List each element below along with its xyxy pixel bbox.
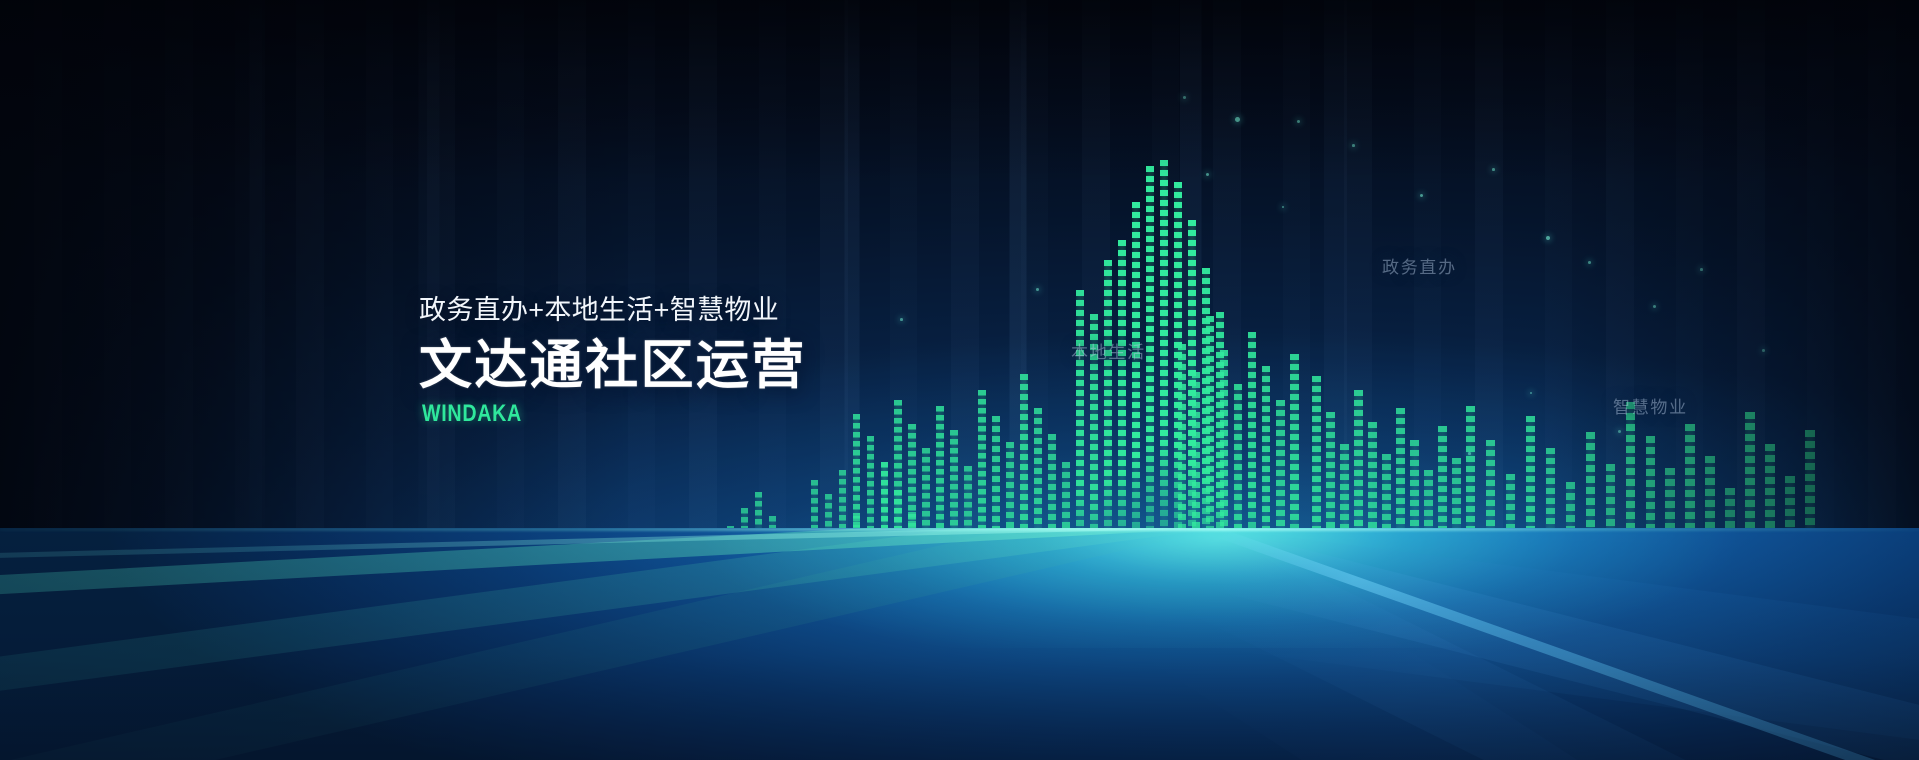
category-label-1: 政务直办 [1382,253,1457,278]
headline-block: 政务直办+本地生活+智慧物业 文达通社区运营 WINDAKA [419,294,807,426]
banner-subtitle: 政务直办+本地生活+智慧物业 [419,294,807,326]
dotted-skyline-chart [0,0,1919,612]
banner-title: 文达通社区运营 [419,336,807,395]
banner-hero: 政务直办本地生活智慧物业 政务直办+本地生活+智慧物业 文达通社区运营 WIND… [0,0,1919,760]
ground-bottom-fade [0,528,1919,760]
category-label-3: 智慧物业 [1613,393,1688,418]
perspective-ground-plane [0,528,1919,760]
brand-wordmark: WINDAKA [422,402,737,426]
category-label-2: 本地生活 [1071,338,1146,363]
